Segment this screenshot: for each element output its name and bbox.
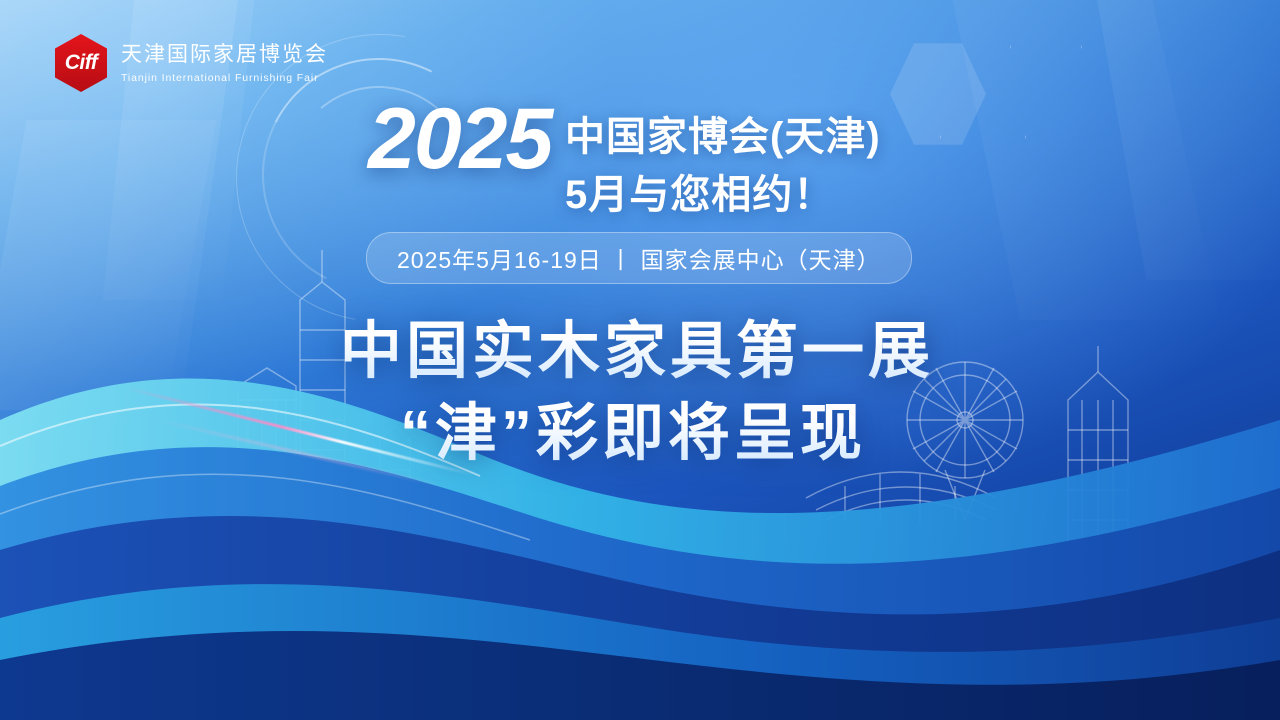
brand-text: 天津国际家居博览会 Tianjin International Furnishi…: [121, 42, 328, 83]
headline-year: 2025: [368, 96, 551, 182]
brand-name-cn: 天津国际家居博览会: [121, 42, 328, 67]
ciff-logo-icon: Ciff: [55, 34, 107, 92]
slogan-line-2: “津”彩即将呈现: [400, 382, 866, 472]
slogan-line-1: 中国实木家具第一展: [340, 300, 934, 390]
event-info-text: 2025年5月16-19日 丨 国家会展中心（天津）: [397, 241, 881, 275]
brand-logo[interactable]: Ciff 天津国际家居博览会 Tianjin International Fur…: [55, 34, 328, 92]
brand-name-en: Tianjin International Furnishing Fair: [121, 72, 328, 84]
event-info-pill: 2025年5月16-19日 丨 国家会展中心（天津）: [366, 232, 912, 284]
headline-line-2: 5月与您相约！: [565, 162, 834, 220]
headline-line-1: 中国家博会(天津): [565, 104, 881, 162]
ciff-logo-text: Ciff: [65, 51, 98, 75]
poster-canvas: Ciff 天津国际家居博览会 Tianjin International Fur…: [0, 0, 1280, 720]
